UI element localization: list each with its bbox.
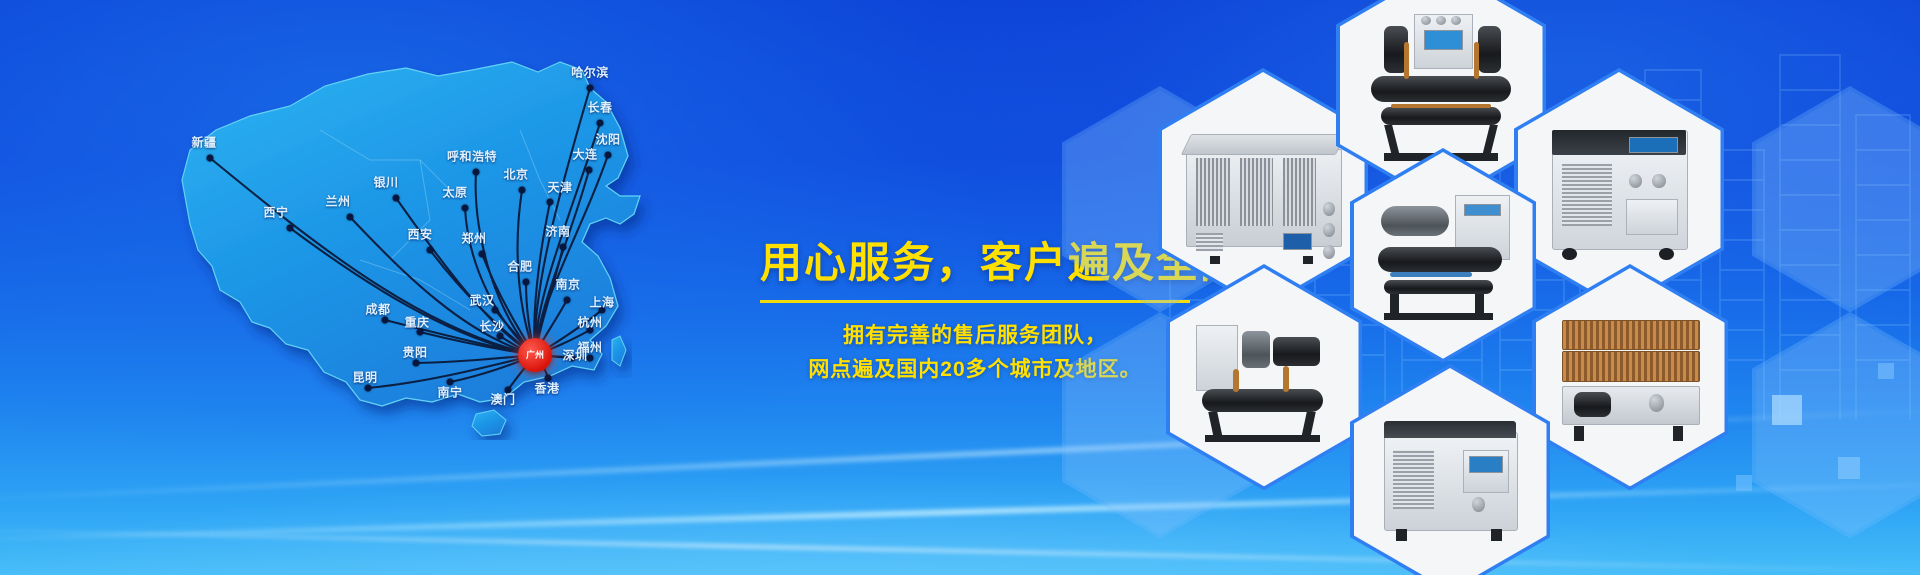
city-dot[interactable] xyxy=(587,85,594,92)
city-label: 贵阳 xyxy=(402,344,427,361)
city-dot[interactable] xyxy=(462,205,469,212)
map-graphic xyxy=(120,10,760,440)
city-label: 南宁 xyxy=(437,384,462,401)
hub-label: 广州 xyxy=(526,351,544,360)
city-label: 西安 xyxy=(407,226,432,243)
city-dot[interactable] xyxy=(547,199,554,206)
city-dot[interactable] xyxy=(393,195,400,202)
product-hex-open-type-screw-chiller[interactable] xyxy=(1350,148,1536,363)
city-dot[interactable] xyxy=(605,152,612,159)
product-hex-industrial-water-chiller[interactable] xyxy=(1350,364,1550,575)
city-label: 澳门 xyxy=(490,391,515,408)
city-label: 南京 xyxy=(555,276,580,293)
city-dot[interactable] xyxy=(427,247,434,254)
city-dot[interactable] xyxy=(473,169,480,176)
city-label: 哈尔滨 xyxy=(571,64,609,81)
product-hex-condenser-coil-chiller[interactable] xyxy=(1532,264,1728,490)
city-dot[interactable] xyxy=(365,385,372,392)
city-label: 重庆 xyxy=(404,314,429,331)
city-label: 合肥 xyxy=(507,258,532,275)
product-hexagon-grid xyxy=(1180,0,1920,575)
city-label: 郑州 xyxy=(461,230,486,247)
city-dot[interactable] xyxy=(597,120,604,127)
city-label: 银川 xyxy=(373,174,398,191)
city-dot[interactable] xyxy=(587,355,594,362)
city-dot[interactable] xyxy=(560,244,567,251)
city-label: 长春 xyxy=(587,99,612,116)
city-label: 兰州 xyxy=(325,193,350,210)
city-label: 太原 xyxy=(442,184,467,201)
promo-banner: 新疆西宁兰州银川呼和浩特太原北京天津哈尔滨长春沈阳大连西安郑州济南合肥南京上海武… xyxy=(0,0,1920,575)
city-dot[interactable] xyxy=(207,155,214,162)
city-dot[interactable] xyxy=(287,225,294,232)
city-label: 成都 xyxy=(365,301,390,318)
city-label: 西宁 xyxy=(263,204,288,221)
hub-marker-guangzhou[interactable]: 广州 xyxy=(518,338,552,372)
city-label: 济南 xyxy=(545,223,570,240)
city-label: 北京 xyxy=(503,166,528,183)
city-label: 呼和浩特 xyxy=(447,148,497,165)
city-dot[interactable] xyxy=(523,279,530,286)
city-label: 深圳 xyxy=(562,347,587,364)
city-label: 新疆 xyxy=(191,134,216,151)
city-dot[interactable] xyxy=(564,297,571,304)
city-dot[interactable] xyxy=(479,251,486,258)
city-dot[interactable] xyxy=(382,317,389,324)
city-label: 香港 xyxy=(534,380,559,397)
city-label: 昆明 xyxy=(352,369,377,386)
city-label: 沈阳 xyxy=(595,131,620,148)
hexagon-decor xyxy=(1752,86,1920,312)
city-label: 天津 xyxy=(547,179,572,196)
city-dot[interactable] xyxy=(347,214,354,221)
city-label: 大连 xyxy=(572,146,597,163)
city-dot[interactable] xyxy=(413,360,420,367)
city-label: 武汉 xyxy=(469,292,494,309)
hexagon-decor xyxy=(1752,312,1920,538)
city-label: 上海 xyxy=(589,294,614,311)
china-distribution-map: 新疆西宁兰州银川呼和浩特太原北京天津哈尔滨长春沈阳大连西安郑州济南合肥南京上海武… xyxy=(120,10,760,440)
city-dot[interactable] xyxy=(519,187,526,194)
divider-rule xyxy=(760,300,1190,303)
city-dot[interactable] xyxy=(586,167,593,174)
city-label: 杭州 xyxy=(577,314,602,331)
city-label: 长沙 xyxy=(479,318,504,335)
